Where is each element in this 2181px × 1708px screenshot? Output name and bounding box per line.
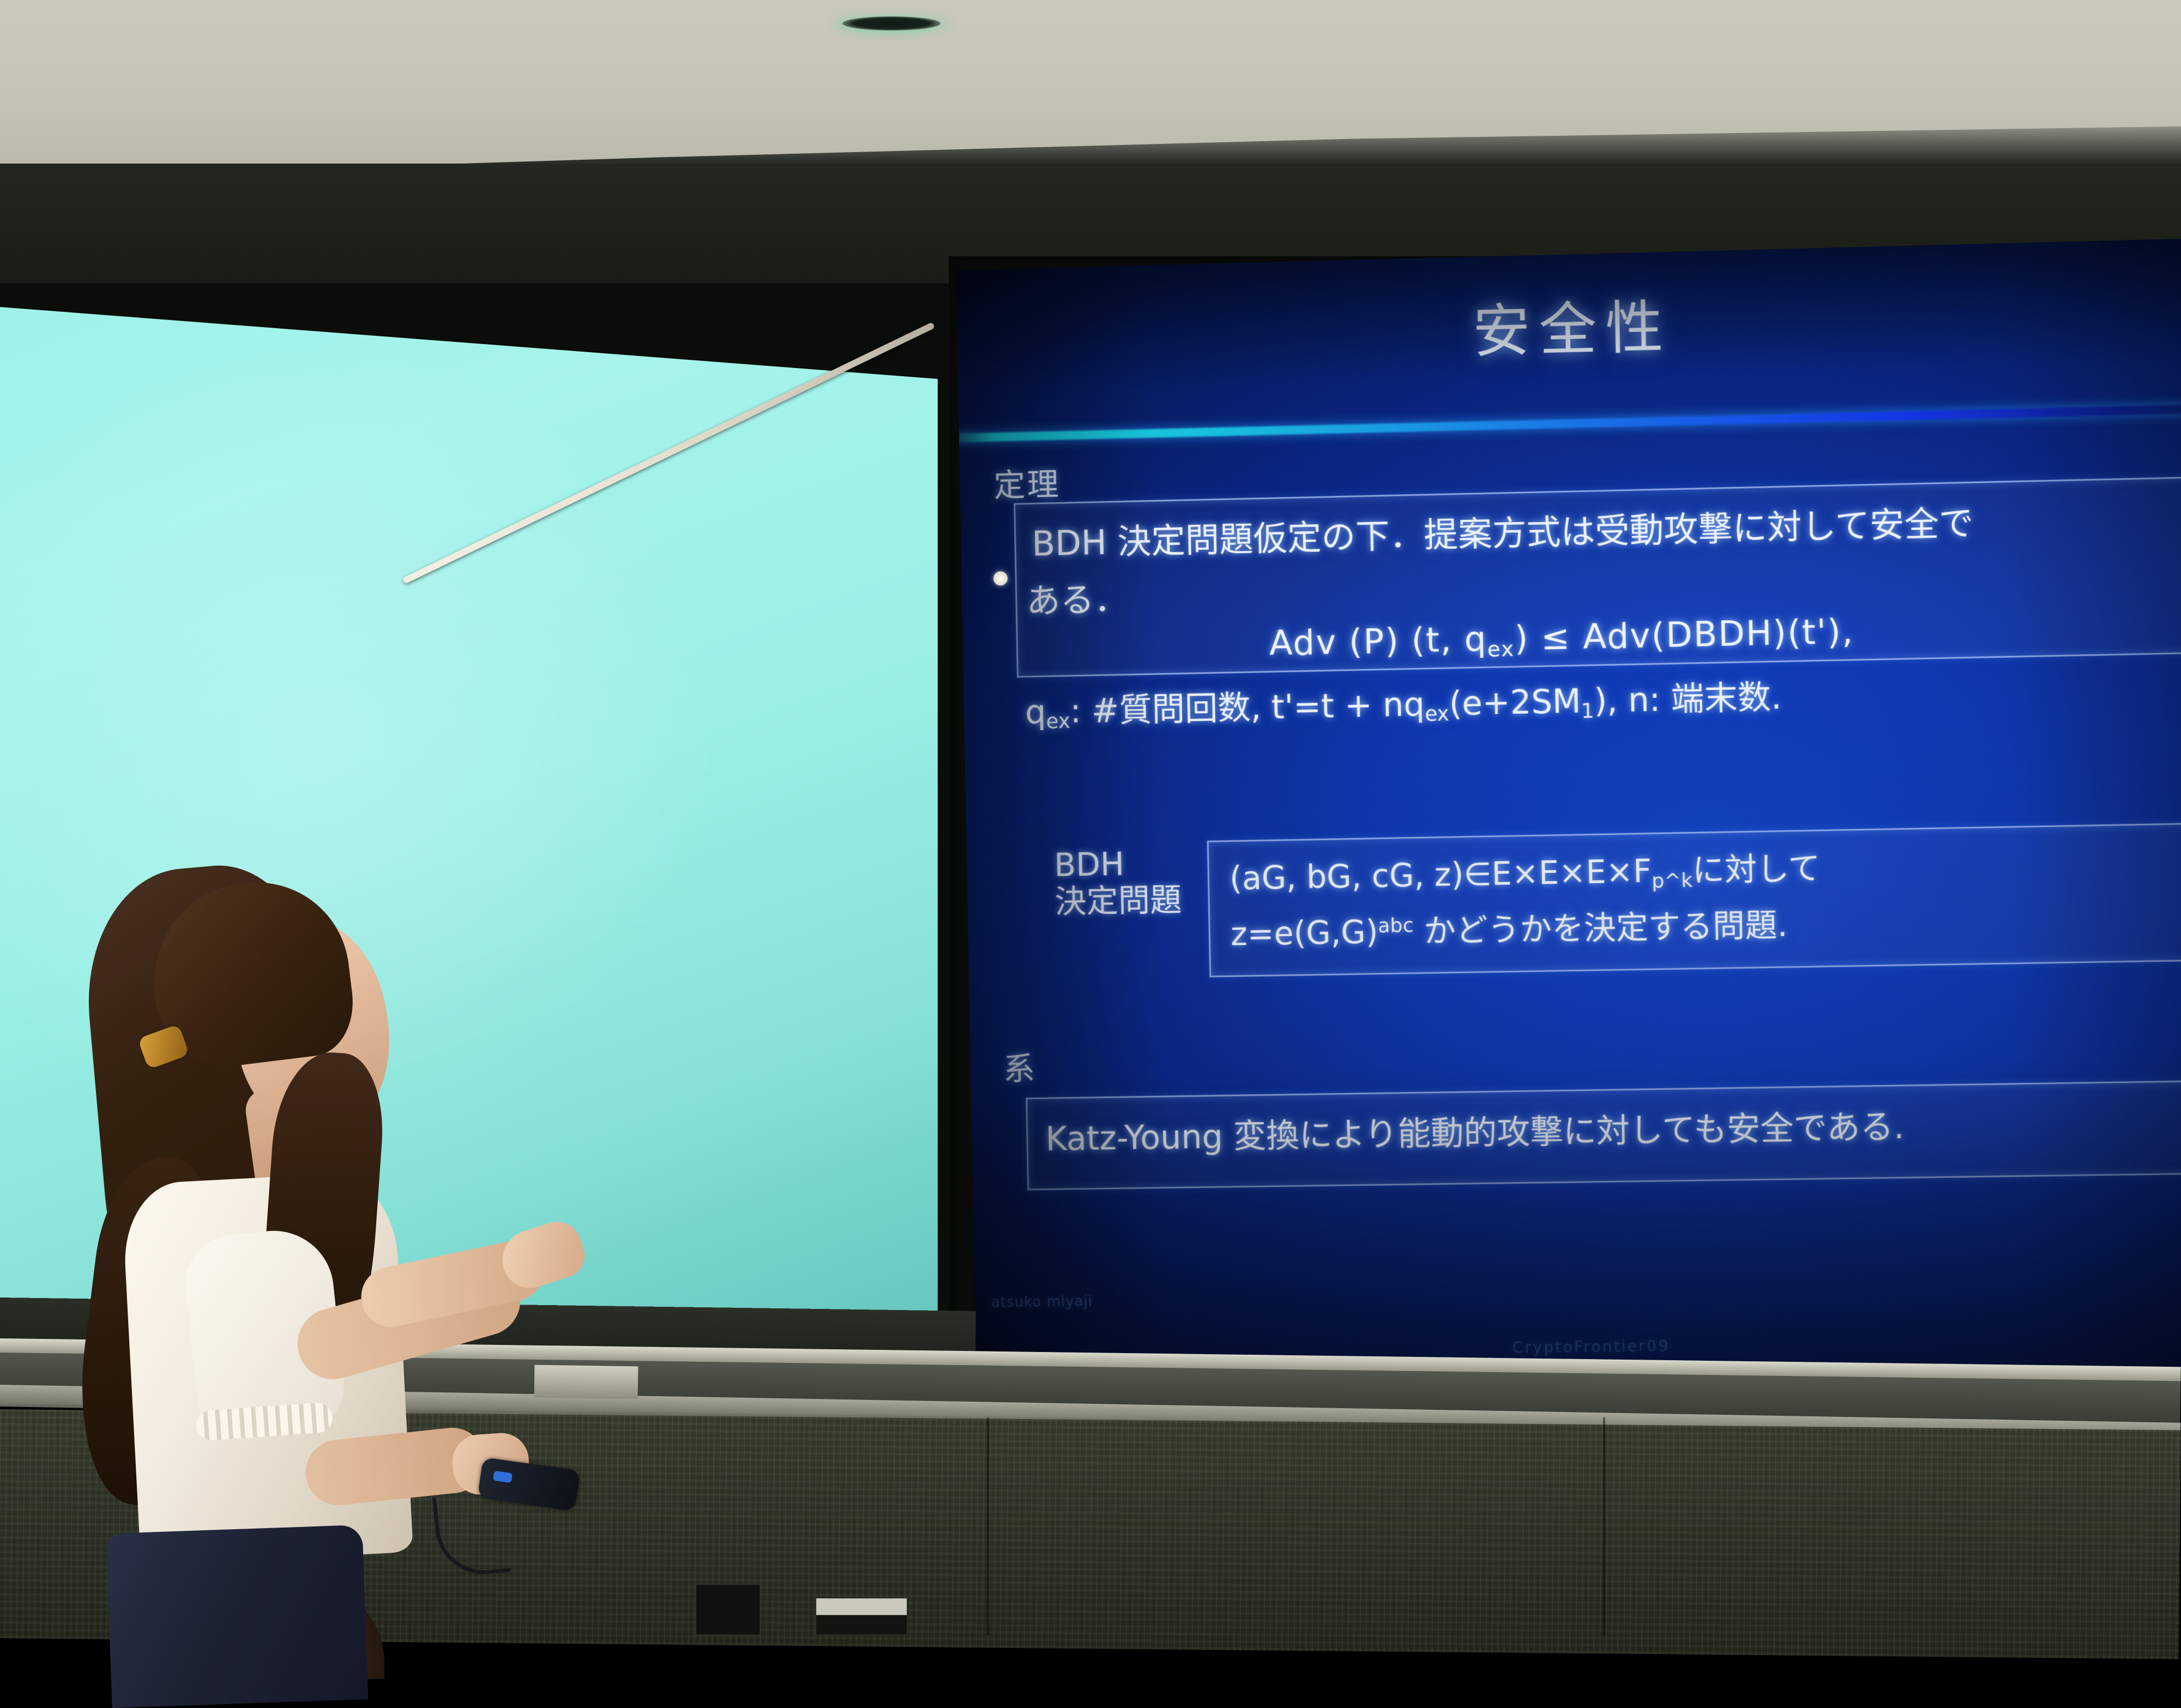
bdh-problem-label: BDH 決定問題 <box>1054 845 1182 920</box>
bdh-exponent: abc <box>1378 914 1414 937</box>
param-q: q <box>1025 693 1046 732</box>
panel-seam <box>1603 1417 1605 1635</box>
bdh-label-line-2: 決定問題 <box>1055 882 1182 920</box>
presentation-slide: 安全性 定理 BDH 決定問題仮定の下．提案方式は受動攻撃に対して安全で ある．… <box>956 238 2181 1385</box>
front-console-unit <box>695 1584 761 1635</box>
param-mid: : #質問回数, t'=t + nq <box>1070 685 1425 731</box>
param-nq-subscript: ex <box>1425 702 1450 726</box>
slide-title: 安全性 <box>956 267 2181 381</box>
corollary-label: 系 <box>1003 1043 1037 1089</box>
bdh-label-line-1: BDH <box>1054 845 1182 884</box>
presenter <box>33 850 523 1635</box>
bdh-pairing: z=e(G,G) <box>1230 913 1378 953</box>
slide-footer-author: atsuko miyaji <box>991 1293 1093 1311</box>
bdh-line-2: z=e(G,G)abc かどうかを決定する問題. <box>1230 899 1788 955</box>
panel-seam <box>987 1417 989 1635</box>
lecture-room-scene: 安全性 定理 BDH 決定問題仮定の下．提案方式は受動攻撃に対して安全で ある．… <box>0 0 2181 1635</box>
formula-tail: ) ≤ Adv(DBDH)(t'), <box>1514 611 1854 659</box>
bdh-tuple: (aG, bG, cG, z)∈E×E×E×F <box>1229 853 1652 897</box>
bdh-line2-tail: かどうかを決定する問題. <box>1413 906 1788 950</box>
title-underline-rule <box>956 405 2181 443</box>
bdh-field-subscript: p^k <box>1652 870 1693 893</box>
ledge-block <box>534 1365 638 1399</box>
param-q-subscript: ex <box>1046 709 1070 734</box>
formula-head: Adv (P) (t, q <box>1269 619 1487 663</box>
formula-subscript: ex <box>1487 637 1515 662</box>
front-console-panel <box>815 1597 908 1635</box>
theorem-parameters: qex: #質問回数, t'=t + nqex(e+2SM1), n: 端末数. <box>1025 671 1782 734</box>
theorem-line-2: ある． <box>1026 572 1129 623</box>
param-sm: (e+2SM <box>1449 682 1581 723</box>
pointer-stick-tip <box>993 571 1008 586</box>
theorem-label: 定理 <box>993 458 1061 506</box>
bdh-line1-tail: に対して <box>1692 849 1821 889</box>
remote-cord <box>432 1490 511 1579</box>
param-tail: ), n: 端末数. <box>1594 678 1782 720</box>
param-sm-subscript: 1 <box>1581 699 1594 723</box>
ceiling-light-icon <box>842 16 941 31</box>
presenter-skirt <box>106 1525 369 1708</box>
